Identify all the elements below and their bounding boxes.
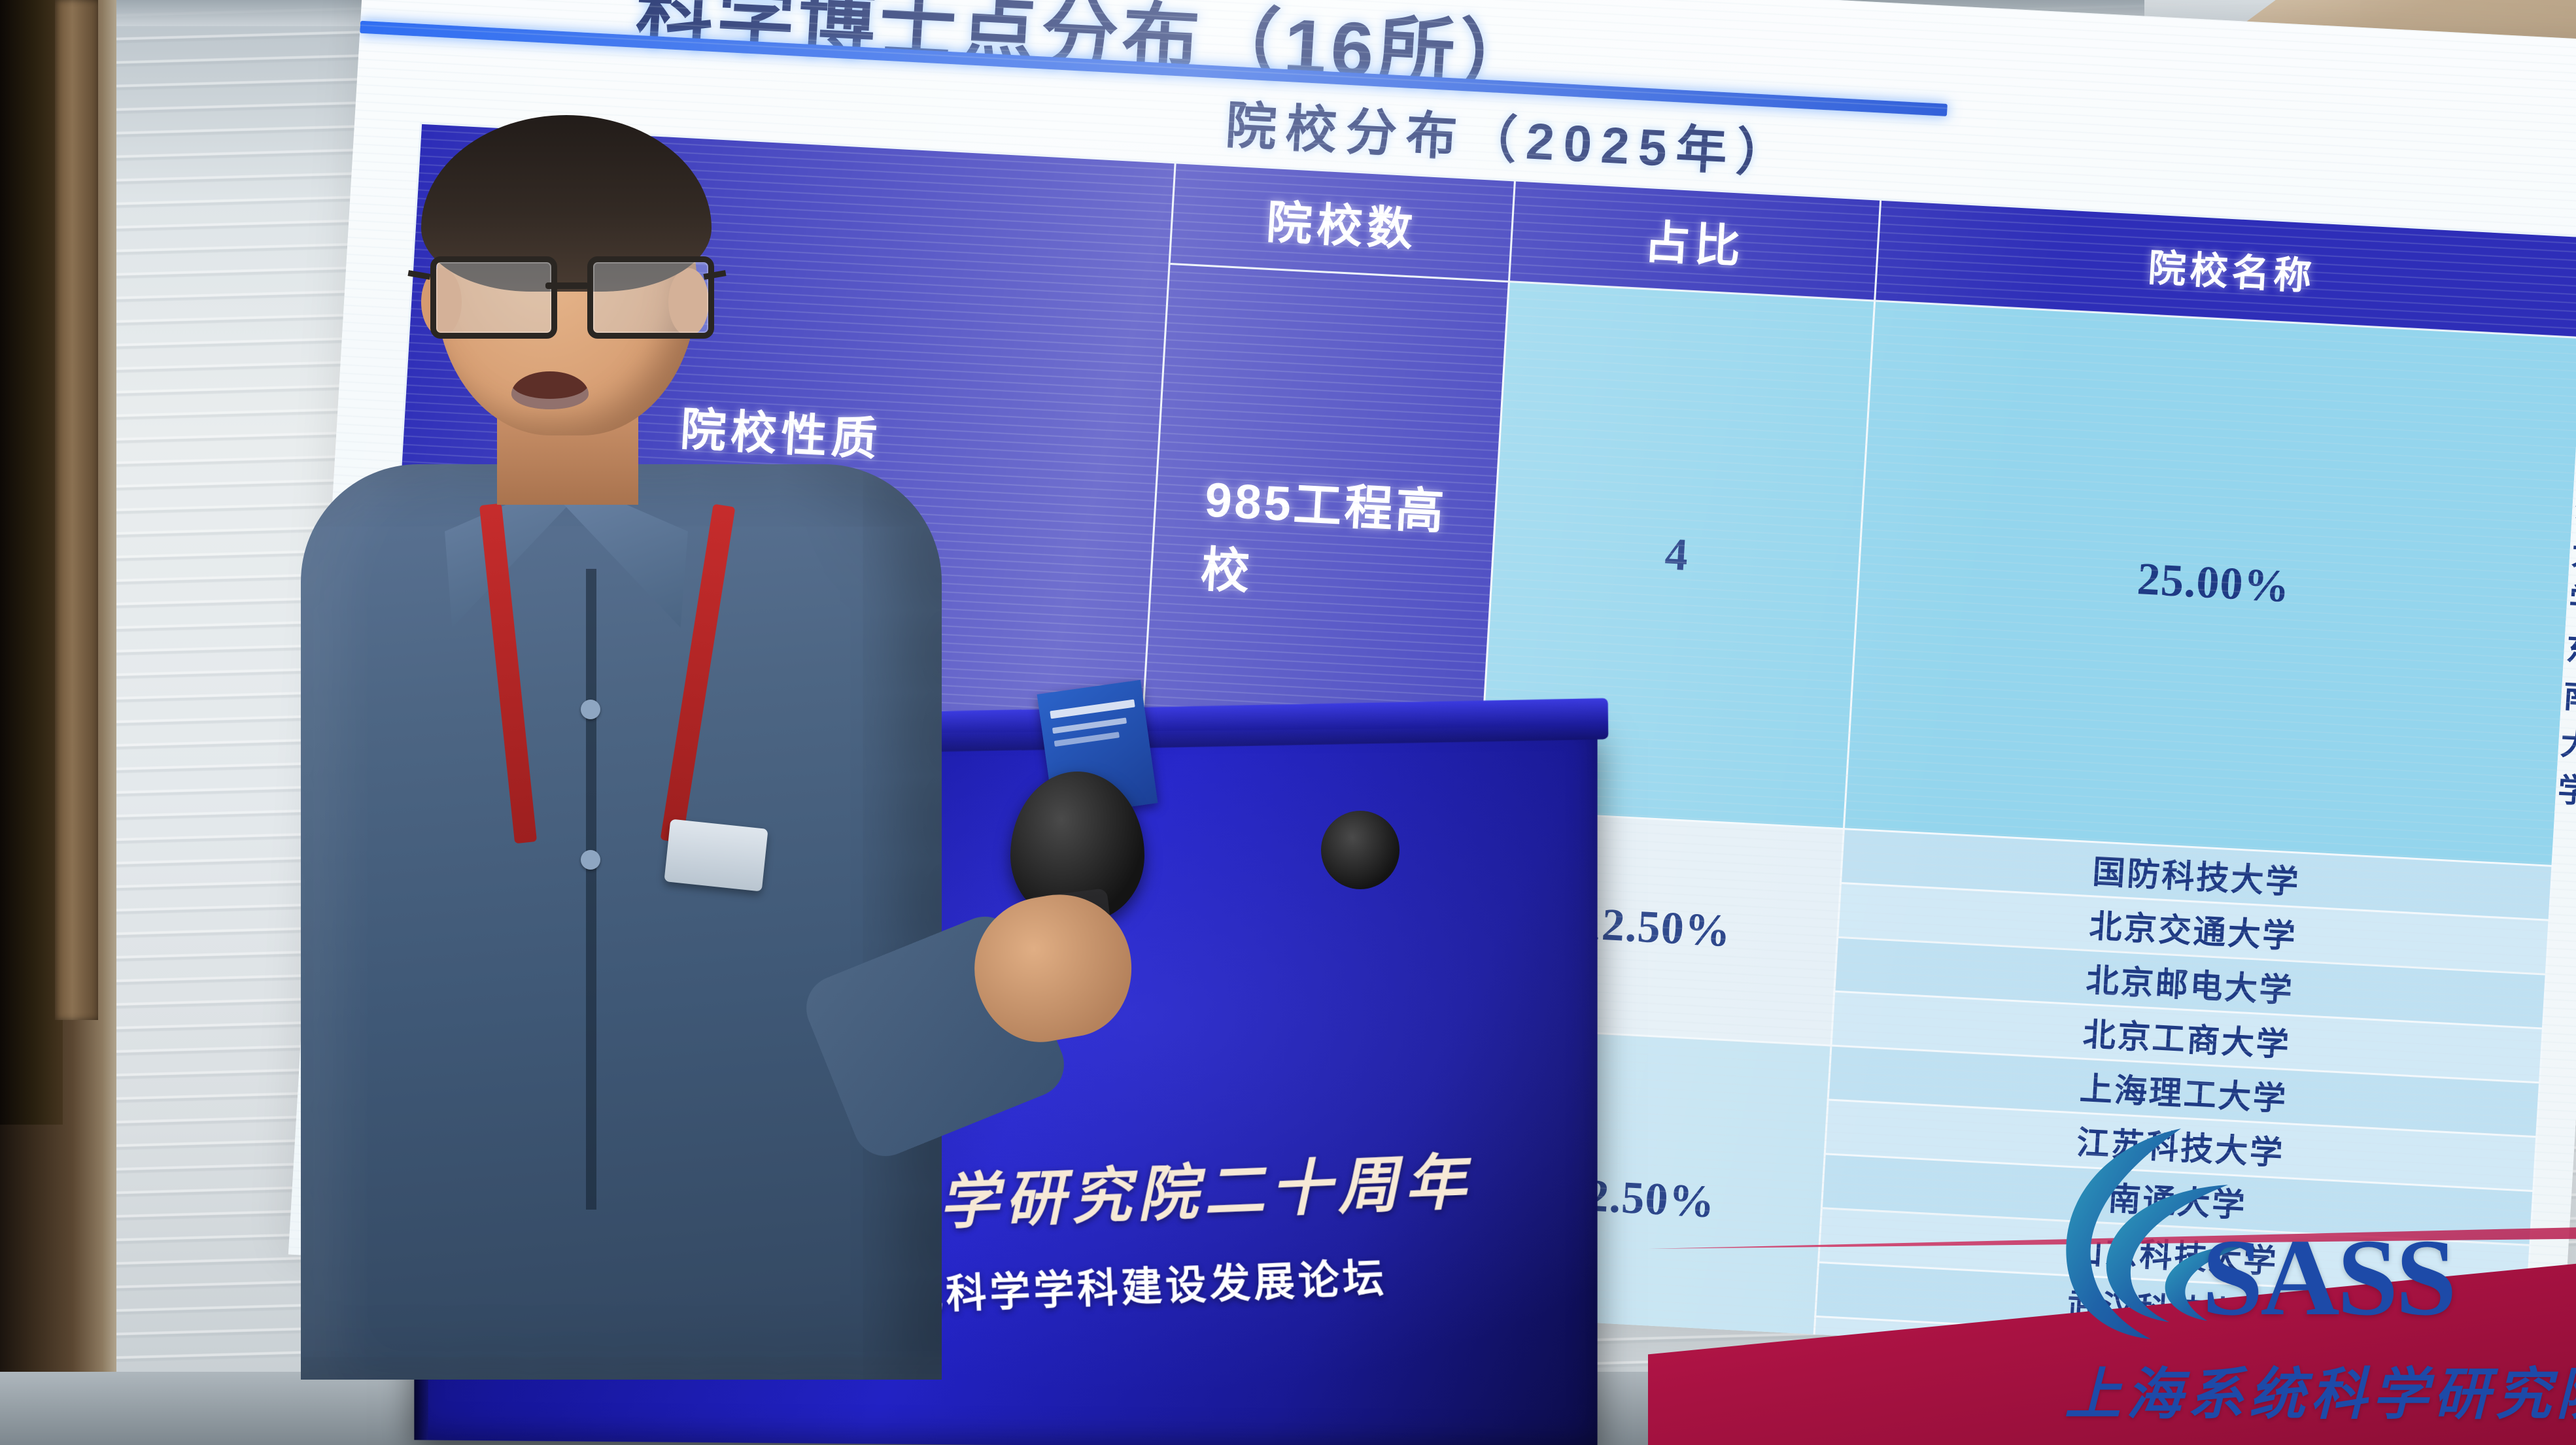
left-wall-panel [0, 0, 63, 1125]
speaker [281, 111, 974, 1353]
mic-flag-line [1052, 717, 1127, 734]
column-header-share: 占比 [1509, 180, 1880, 301]
speaker-glasses [426, 256, 708, 335]
glasses-lens-right [587, 256, 714, 339]
speaker-shirt-button [581, 850, 600, 870]
conference-photo-scene: 科学博士点分布（16所） 院校分布（2025年） 院校性质院校数占比院校名称98… [0, 0, 2576, 1445]
mic-flag-line [1054, 732, 1120, 747]
mic-flag-line [1050, 699, 1135, 719]
glasses-bridge [545, 282, 589, 289]
speaker-shirt-placket [586, 569, 596, 1210]
sass-watermark: SASS 上海系统科学研究院 [2053, 1105, 2550, 1445]
second-microphone [1321, 811, 1400, 889]
speaker-name-badge [664, 819, 768, 891]
door-frame [55, 0, 98, 1020]
column-header-count: 院校数 [1169, 163, 1515, 282]
cell-share: 25.00% [1844, 301, 2576, 866]
speaker-shirt-button [581, 700, 600, 719]
speaker-torso [301, 464, 942, 1380]
glasses-temple-left [407, 270, 430, 280]
glasses-lens-left [430, 256, 557, 339]
watermark-institute-name: 上海系统科学研究院 [2065, 1348, 2576, 1430]
watermark-sass-wordmark: SASS [2202, 1215, 2454, 1341]
